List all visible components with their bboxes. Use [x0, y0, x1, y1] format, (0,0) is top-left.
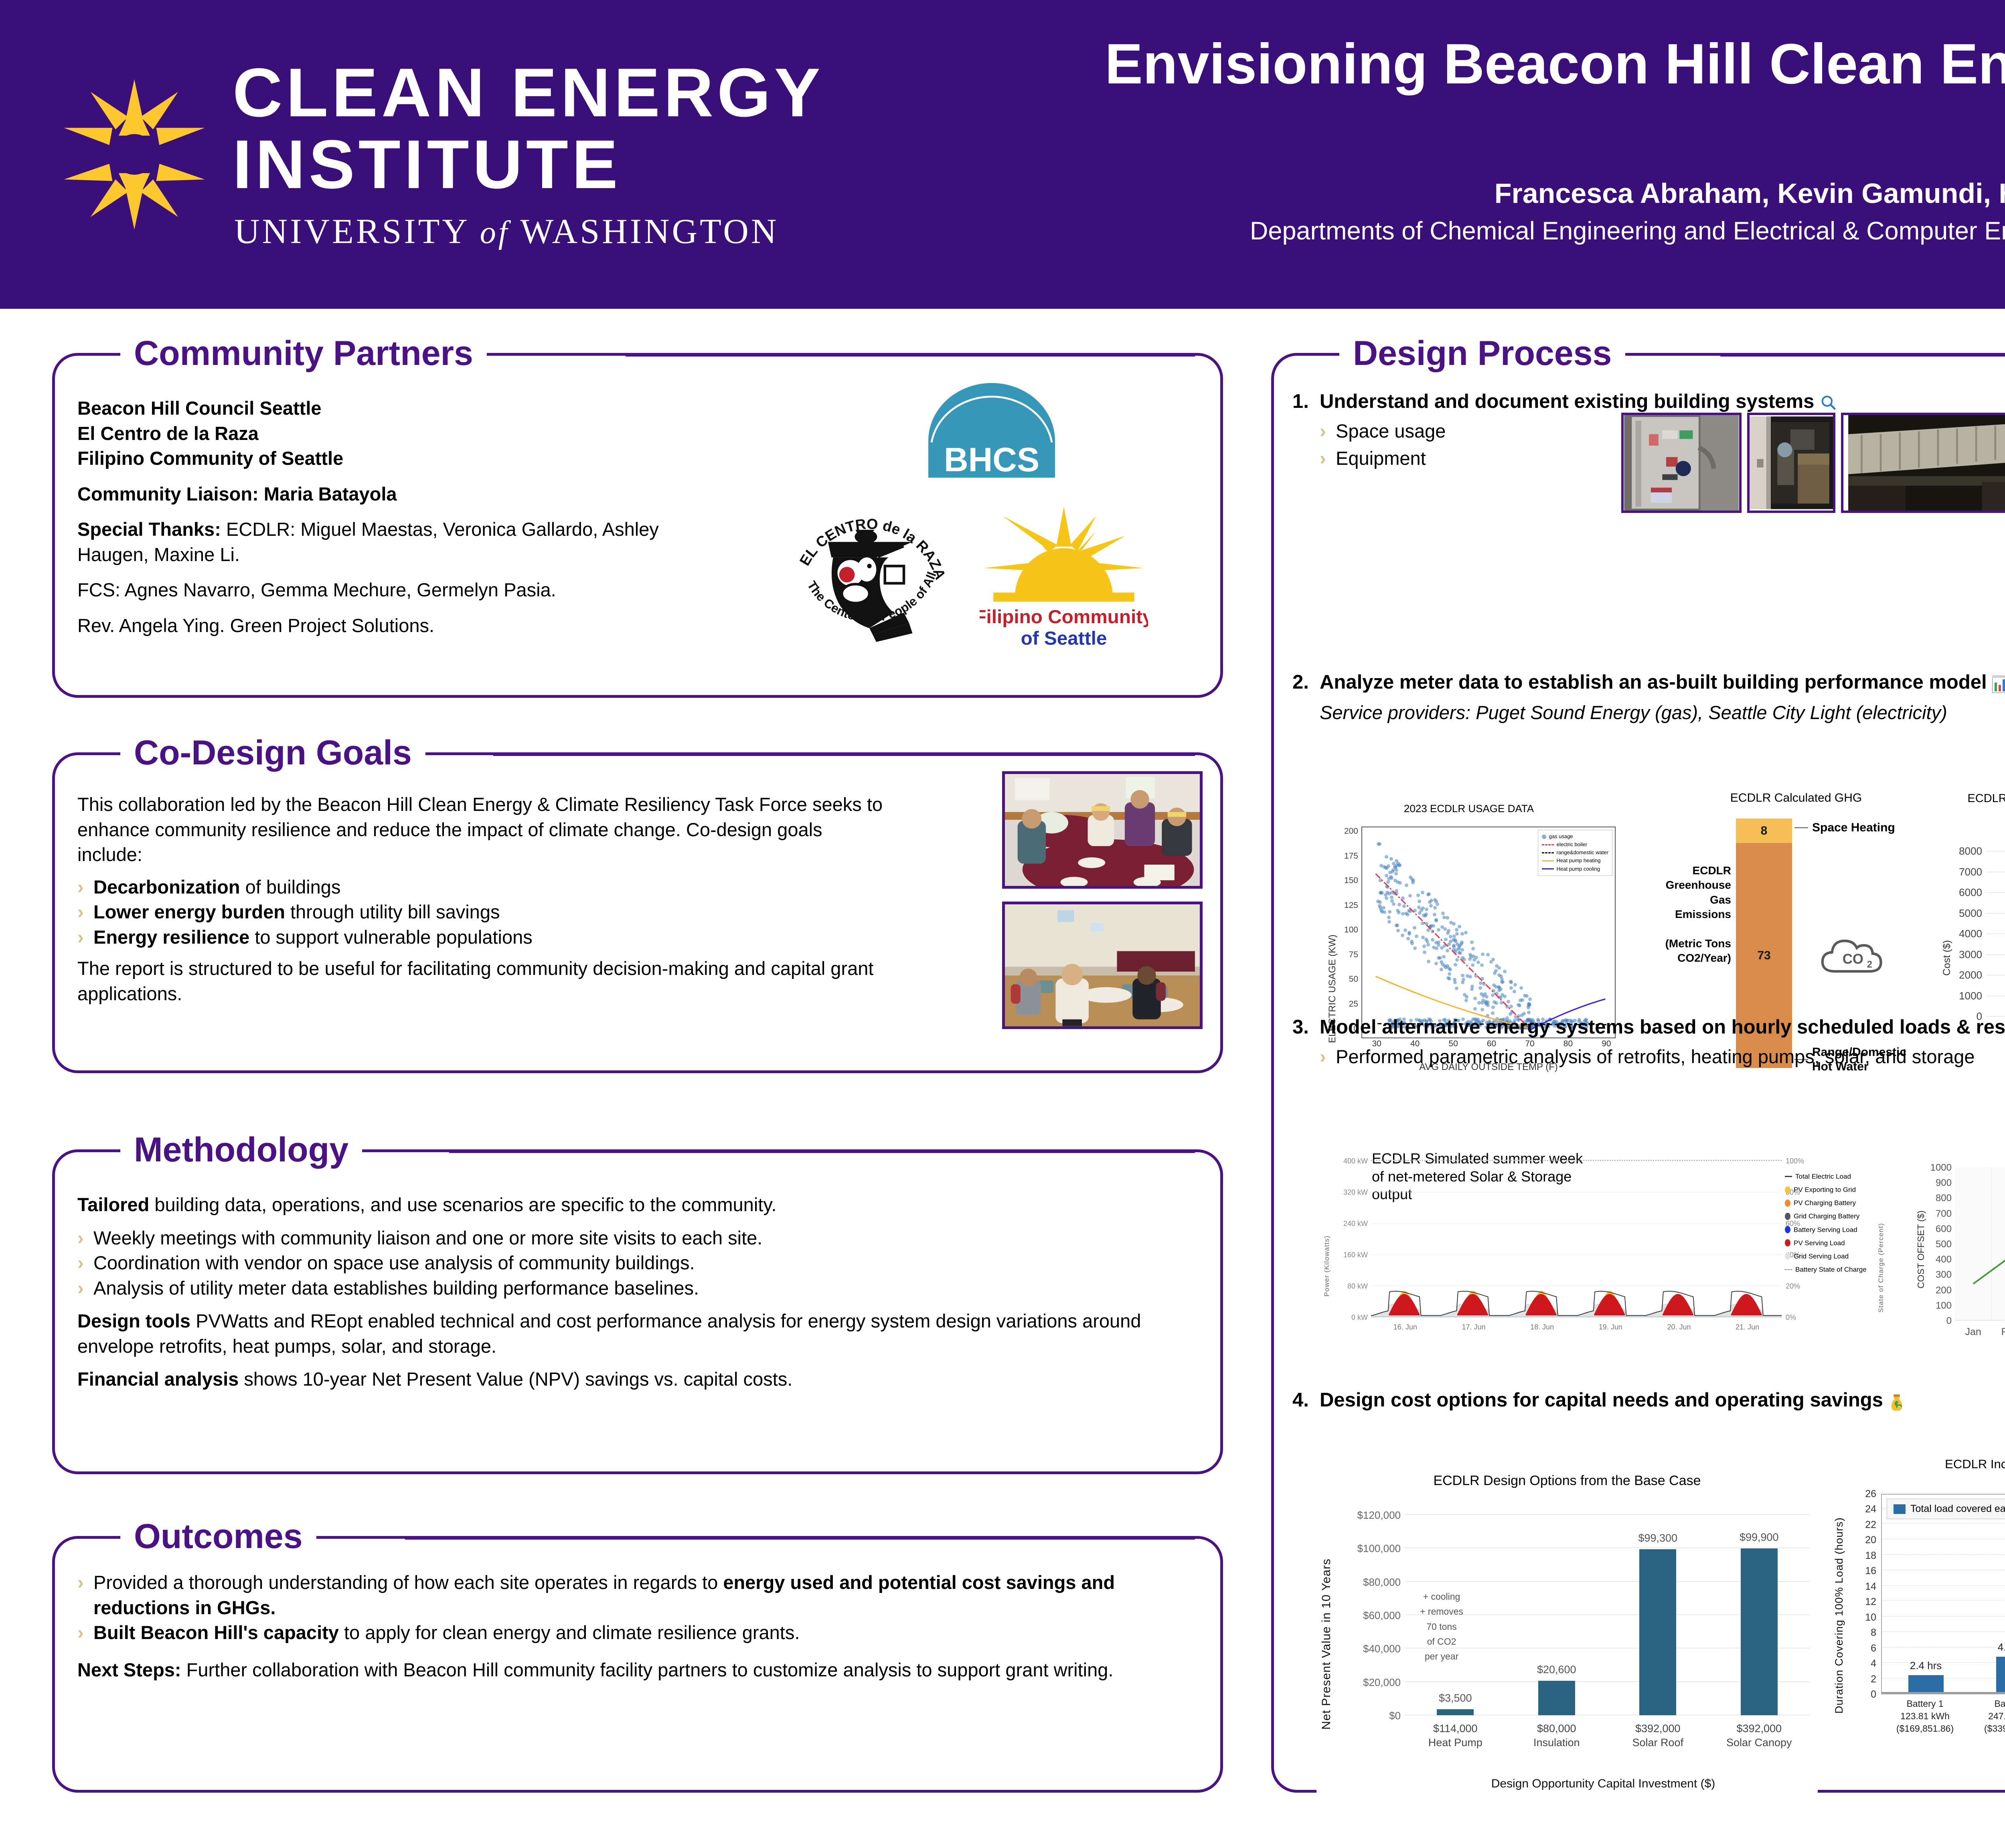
chart-y-tick: 800 [1924, 1193, 1952, 1204]
chart-y-tick: 14 [1853, 1581, 1876, 1593]
chart-y-tick: 0 [1924, 1315, 1952, 1327]
chart-y-tick: 16 [1853, 1565, 1876, 1577]
step-2-label: Analyze meter data [1320, 671, 1499, 693]
chart-x-axis-label: Battery Size (kWh) & Capital Cost ($) [1878, 1753, 2005, 1767]
step-number: 3. [1292, 1016, 1320, 1038]
legend-label: PV Exporting to Grid [1794, 1183, 1856, 1196]
section-rule [1720, 353, 2005, 357]
legend-label: range&domestic water [1557, 849, 1608, 857]
ghg-segment-value: 73 [1757, 949, 1770, 962]
annotation-line: 70 tons [1410, 1619, 1474, 1634]
chart-y-tick: 175 [1335, 851, 1358, 861]
chart-y-tick: 320 kW [1329, 1188, 1368, 1197]
step-3-label: Model alternative energy systems [1320, 1016, 1634, 1038]
goal-bullet: ›Lower energy burden through utility bil… [77, 900, 883, 925]
chart-plot-area [1371, 1161, 1782, 1317]
chart-y-tick: 80 kW [1329, 1282, 1368, 1291]
co2-cloud-icon: CO 2 [1816, 924, 1892, 980]
annotation-line: + cooling [1410, 1589, 1474, 1604]
methodology-bullet-label: Coordination with vendor on space use an… [93, 1250, 1196, 1276]
design-step-1-sub: ›Space usage [1320, 420, 1446, 442]
community-partners-text: Beacon Hill Council Seattle El Centro de… [77, 396, 727, 648]
chart-x-tick: 17. Jun [1440, 1323, 1508, 1331]
chart-title: 2023 ECDLR USAGE DATA [1316, 802, 1621, 815]
photo-doorway-equipment [1747, 413, 1835, 513]
chart-y2-tick: 0% [1786, 1313, 1814, 1322]
goals-intro: This collaboration led by the Beacon Hil… [77, 792, 883, 867]
legend-label: Battery State of Charge [1795, 1263, 1867, 1276]
chart-annotation: + cooling+ removes70 tonsof CO2per year [1410, 1589, 1474, 1664]
community-partners-panel: Beacon Hill Council Seattle El Centro de… [52, 353, 1223, 698]
chart-bar [1996, 1657, 2005, 1694]
step-3-sub-label: Performed parametric analysis of retrofi… [1336, 1046, 1975, 1068]
ghg-callout: Space Heating [1794, 821, 1900, 835]
legend-item: Battery State of Charge [1785, 1263, 1879, 1276]
photo-ductwork [1841, 413, 2005, 513]
legend-item: Total Electric Load [1785, 1170, 1879, 1183]
chart-y-tick: 10 [1853, 1612, 1876, 1623]
svg-text:CO: CO [1843, 951, 1863, 967]
chart-bar [1741, 1548, 1778, 1715]
chart-legend: gas usageelectric boilerrange&domestic w… [1538, 830, 1612, 876]
chart-legend: Total load covered each hour: 51.58 kW [1887, 1499, 2005, 1519]
annotation-line: of CO2 [1410, 1634, 1474, 1649]
chart-y-tick: 700 [1924, 1208, 1952, 1220]
chart-data-label: 2.4 hrs [1890, 1660, 1962, 1672]
chart-bar [1437, 1709, 1474, 1715]
chart-x-tick: 18. Jun [1508, 1323, 1576, 1331]
design-step-1: 1. Understand and document existing buil… [1292, 390, 2005, 414]
chart-y-tick: $60,000 [1330, 1609, 1401, 1622]
chart-y-tick: 6000 [1950, 886, 1982, 899]
chart-plot-area: 2.4 hrs4.8 hrs7.2 hrs9.6 hrs12 hrs24 hrs [1881, 1494, 2005, 1694]
legend-label: Total load covered each hour: 51.58 kW [1910, 1503, 2005, 1515]
poster-header: CLEAN ENERGY INSTITUTE UNIVERSITY of WAS… [0, 0, 2005, 309]
co-design-goals-title: Co-Design Goals [120, 736, 425, 770]
partner-name: Beacon Hill Council Seattle [77, 396, 727, 421]
chart-x-tick: 19. Jun [1576, 1323, 1645, 1331]
chart-y-tick: 18 [1853, 1550, 1876, 1562]
ghg-side-line: CO2/Year) [1636, 951, 1731, 965]
chart-y-tick: 240 kW [1329, 1220, 1368, 1228]
methodology-title: Methodology [120, 1133, 362, 1167]
design-step-3-sub: ›Performed parametric analysis of retrof… [1320, 1046, 2005, 1068]
legend-item: Battery Serving Load [1785, 1223, 1879, 1236]
chart-y-tick: 5000 [1950, 907, 1982, 920]
chart-y-tick: 25 [1335, 999, 1358, 1009]
chart-y-tick: 1000 [1950, 990, 1982, 1002]
goal-bullet: ›Decarbonization of buildings [77, 875, 883, 900]
chart-y-tick: $120,000 [1330, 1509, 1401, 1522]
methodology-bullet-label: Analysis of utility meter data establish… [93, 1276, 1196, 1301]
chart-legend: Ave SummerAve Winter [1938, 830, 2005, 841]
chart-y-tick: $40,000 [1330, 1643, 1401, 1655]
legend-item: range&domestic water [1542, 849, 1608, 857]
ghg-side-line: Gas [1636, 893, 1731, 907]
legend-label: electric boiler [1557, 841, 1588, 849]
chart-y-tick: 3000 [1950, 948, 1982, 961]
chart-title: ECDLR Calculated GHG [1636, 791, 1956, 805]
outcome-bullet: ›Provided a thorough understanding of ho… [77, 1570, 1196, 1620]
legend-item: Grid Serving Load [1785, 1250, 1879, 1263]
chart-y-tick: 400 [1924, 1254, 1952, 1265]
el-centro-de-la-raza-logo-icon: EL CENTRO de la RAZA The Center for Peop… [783, 483, 956, 656]
legend-item: Heat pump heating [1542, 857, 1608, 865]
svg-text:BHCS: BHCS [944, 441, 1039, 478]
chart-y-tick: 2000 [1950, 969, 1982, 981]
chart-y-tick: 7000 [1950, 866, 1982, 878]
chart-legend: Total Electric LoadPV Exporting to GridP… [1785, 1170, 1879, 1276]
chart-y-tick: 160 kW [1329, 1251, 1368, 1259]
goals-closing: The report is structured to be useful fo… [77, 956, 883, 1006]
ghg-segment-value: 8 [1761, 824, 1768, 838]
chart-y-tick: 20 [1853, 1534, 1876, 1546]
outcomes-panel: ›Provided a thorough understanding of ho… [52, 1536, 1223, 1793]
ghg-side-label: ECDLRGreenhouseGasEmissions (Metric Tons… [1636, 863, 1731, 966]
methodology-tailored: Tailored building data, operations, and … [77, 1192, 1196, 1218]
battery-name: Battery 2 [1969, 1698, 2005, 1710]
methodology-bullet: ›Coordination with vendor on space use a… [77, 1250, 1196, 1276]
legend-label: Battery Serving Load [1794, 1223, 1857, 1236]
bhcs-logo-icon: BHCS [924, 383, 1060, 479]
chart-y-tick: 400 kW [1329, 1157, 1368, 1165]
special-thanks-other: Rev. Angela Ying. Green Project Solution… [77, 613, 727, 638]
chart-y-tick: 4 [1853, 1658, 1876, 1670]
chart-y-tick: 100 [1924, 1300, 1952, 1311]
battery-size: 123.81 kWh [1881, 1710, 1969, 1722]
chart-data-label: $99,300 [1622, 1532, 1694, 1544]
ghg-side-line: Greenhouse [1636, 878, 1731, 892]
partner-logos: BHCS EL CENTRO de la RAZA The Center for… [751, 383, 1204, 680]
chart-plot-area: gas usageelectric boilerrange&domestic w… [1361, 827, 1616, 1038]
partner-name: Filipino Community of Seattle [77, 446, 727, 471]
chart-y-tick: 900 [1924, 1177, 1952, 1189]
community-partners-title: Community Partners [120, 336, 487, 371]
chart-y-tick: 300 [1924, 1269, 1952, 1281]
chart-y-tick: 24 [1853, 1504, 1876, 1515]
chart-y-tick: $0 [1330, 1710, 1401, 1722]
design-process-content: 1. Understand and document existing buil… [1292, 390, 2005, 1782]
chart-y-tick: 1000 [1924, 1162, 1952, 1173]
methodology-bullet: ›Analysis of utility meter data establis… [77, 1276, 1196, 1301]
battery-size: 247.61 kWh [1969, 1710, 2005, 1722]
chart-category-label: Battery 1123.81 kWh($169,851.86) [1881, 1698, 1969, 1735]
special-thanks-ecdlr: Special Thanks: ECDLR: Miguel Maestas, V… [77, 517, 727, 567]
annotation-line: per year [1410, 1649, 1474, 1664]
logo-text-line2: INSTITUTE [233, 129, 824, 201]
outcomes-text: ›Provided a thorough understanding of ho… [77, 1570, 1196, 1682]
chart-data-label: 4.8 hrs [1978, 1641, 2005, 1653]
logo-text-line1: CLEAN ENERGY [233, 57, 824, 129]
chart-y-tick: 600 [1924, 1224, 1952, 1235]
step-1-label: Understand and document existing buildin… [1320, 391, 1814, 412]
ghg-side-line: Emissions [1636, 907, 1731, 922]
legend-item: PV Exporting to Grid [1785, 1183, 1879, 1196]
legend-item: gas usage [1542, 833, 1608, 841]
design-step-4: 4. Design cost options for capital needs… [1292, 1389, 2005, 1412]
bar-chart-icon [1992, 672, 2005, 695]
chart-y-tick: 4000 [1950, 928, 1982, 940]
co-design-goals-panel: This collaboration led by the Beacon Hil… [52, 752, 1223, 1073]
chart-fcs-monthly-potential-solar-savings: FCS Monthly Potential Solar Savings COST… [1910, 1144, 2005, 1353]
design-step-2: 2. Analyze meter data to establish an as… [1292, 671, 2005, 695]
author-list: Francesca Abraham, Kevin Gamundi, Henri … [1088, 177, 2005, 209]
section-rule [405, 1536, 1195, 1540]
chart-y-tick: $100,000 [1330, 1542, 1401, 1555]
step-number: 4. [1292, 1389, 1320, 1411]
ghg-side-line: (Metric Tons [1636, 936, 1731, 951]
chart-ecdlr-simulated-solar-storage: ECDLR Simulated summer week of net-meter… [1320, 1152, 1882, 1353]
chart-title: ECDLR Design Options from the Base Case [1316, 1473, 1818, 1489]
photo-site-walkthrough [1002, 902, 1203, 1029]
chart-plot-area [1955, 1167, 2005, 1321]
cei-logo: CLEAN ENERGY INSTITUTE UNIVERSITY of WAS… [56, 57, 824, 252]
chart-title-line1: ECDLR Increasing Battery Size Adds Resil… [1830, 1457, 2005, 1471]
legend-label: Heat pump cooling [1557, 865, 1600, 873]
chart-bar [1908, 1675, 1944, 1694]
chart-title: ECDLR Comparative Heating System Options… [1938, 791, 2005, 821]
legend-label: Heat pump heating [1557, 857, 1601, 865]
step-number: 2. [1292, 671, 1320, 693]
chart-y-tick: 200 [1335, 827, 1358, 836]
chart-y-tick: $80,000 [1330, 1576, 1401, 1589]
design-process-panel: 1. Understand and document existing buil… [1271, 353, 2005, 1793]
design-step-2-providers: Service providers: Puget Sound Energy (g… [1320, 701, 2005, 723]
chart-data-label: $20,600 [1521, 1664, 1593, 1676]
svg-text:Filipino Community: Filipino Community [980, 606, 1148, 628]
methodology-bullet-label: Weekly meetings with community liaison a… [93, 1226, 1196, 1251]
chart-y-tick: 8 [1853, 1627, 1876, 1639]
methodology-panel: Tailored building data, operations, and … [52, 1149, 1223, 1474]
legend-label: Grid Serving Load [1794, 1250, 1849, 1263]
chart-bar [1538, 1681, 1575, 1715]
chart-plot-area [1986, 851, 2005, 1017]
ghg-segment: 8 [1736, 819, 1792, 843]
svg-text:2: 2 [1867, 959, 1872, 970]
chart-title-line2: [Simulated 104°F Day] [1830, 1471, 2005, 1486]
methodology-finance: Financial analysis shows 10-year Net Pre… [77, 1367, 1196, 1392]
chart-category-label: Battery 2247.61 kWh($339,703.72) [1969, 1698, 2005, 1735]
photo-electrical-panel [1621, 413, 1742, 513]
legend-label: gas usage [1549, 833, 1573, 841]
step-4-rest: for capital needs and operating savings [1507, 1389, 1883, 1411]
logo-text-line3: UNIVERSITY of WASHINGTON [234, 211, 824, 252]
step-1-sub-label: Space usage [1336, 420, 1446, 442]
step-number: 1. [1292, 390, 1320, 413]
page-title: Envisioning Beacon Hill Clean Energy & C… [1088, 32, 2005, 160]
chart-y2-tick: 100% [1786, 1157, 1814, 1165]
legend-item: electric boiler [1542, 841, 1608, 849]
chart-y-tick: 6 [1853, 1643, 1876, 1654]
chart-y-tick: 50 [1335, 975, 1358, 984]
legend-item: PV Serving Load [1785, 1236, 1879, 1250]
sun-burst-icon [56, 76, 213, 233]
section-rule [493, 752, 1195, 756]
section-rule [449, 1149, 1195, 1153]
chart-y-tick: 0 kW [1329, 1313, 1368, 1322]
battery-cost: ($339,703.72) [1969, 1722, 2005, 1735]
chart-x-tick: 16. Jun [1371, 1323, 1440, 1331]
photo-community-meeting [1002, 771, 1203, 889]
co-design-photos [1002, 771, 1203, 1029]
chart-data-label: $3,500 [1419, 1692, 1491, 1704]
chart-category-label: $114,000Heat Pump [1405, 1722, 1506, 1750]
step-2-rest: to establish an as-built building perfor… [1499, 671, 1987, 693]
chart-y-tick: 200 [1924, 1285, 1952, 1296]
step-4-label: Design cost options [1320, 1389, 1507, 1411]
chart-y-tick: 2 [1853, 1674, 1876, 1685]
filipino-community-of-seattle-logo-icon: Filipino Community of Seattle [980, 503, 1148, 656]
chart-title: FCS Monthly Potential Solar Savings [1910, 1144, 2005, 1160]
chart-x-tick: 21. Jun [1713, 1323, 1782, 1331]
ghg-callout-label: Space Heating [1812, 821, 1900, 835]
battery-cost: ($169,851.86) [1881, 1722, 1969, 1735]
design-step-3: 3. Model alternative energy systems base… [1292, 1016, 2005, 1039]
partner-name: El Centro de la Raza [77, 421, 727, 446]
annotation-line: + removes [1410, 1604, 1474, 1619]
step-1-photo-strip: Visiting site and observing equipment. [1621, 413, 2005, 527]
chart-x-axis-label: Design Opportunity Capital Investment ($… [1389, 1777, 1818, 1791]
outcome-bullet: ›Built Beacon Hill's capacity to apply f… [77, 1620, 1196, 1645]
legend-label: PV Serving Load [1794, 1236, 1845, 1250]
legend-item: Grid Charging Battery [1785, 1210, 1879, 1223]
chart-y-tick: 75 [1335, 950, 1358, 960]
chart-y-tick: 500 [1924, 1239, 1952, 1250]
money-bag-icon [1889, 1390, 1905, 1412]
legend-label: Grid Charging Battery [1794, 1210, 1859, 1223]
chart-y-tick: 125 [1335, 901, 1358, 910]
chart-bar [1639, 1549, 1676, 1715]
methodology-tools: Design tools PVWatts and REopt enabled t… [77, 1309, 1196, 1359]
battery-name: Battery 1 [1881, 1698, 1969, 1710]
section-rule [626, 353, 1195, 357]
design-process-title: Design Process [1339, 336, 1625, 371]
goal-bullet: ›Energy resilience to support vulnerable… [77, 925, 883, 950]
legend-item: Heat pump cooling [1542, 865, 1608, 873]
step-3-rest: based on hourly scheduled loads & resour… [1634, 1016, 2005, 1038]
co-design-goals-text: This collaboration led by the Beacon Hil… [77, 792, 883, 1006]
chart-x-tick: Jan [1955, 1326, 1991, 1338]
ghg-side-line: ECDLR [1636, 863, 1731, 878]
title-block: Envisioning Beacon Hill Clean Energy & C… [1088, 32, 2005, 245]
methodology-bullet: ›Weekly meetings with community liaison … [77, 1226, 1196, 1251]
special-thanks-fcs: FCS: Agnes Navarro, Gemma Mechure, Germe… [77, 577, 727, 603]
chart-ecdlr-design-options: ECDLR Design Options from the Base Case … [1316, 1473, 1818, 1794]
chart-y2-tick: 20% [1786, 1282, 1814, 1291]
ghg-side-line [1636, 922, 1731, 936]
chart-y-tick: 150 [1335, 876, 1358, 885]
department-line: Departments of Chemical Engineering and … [1088, 217, 2005, 245]
chart-y-tick: 0 [1853, 1689, 1876, 1700]
magnifier-icon [1820, 391, 1837, 414]
svg-text:of Seattle: of Seattle [1021, 628, 1107, 649]
legend-label: PV Charging Battery [1794, 1196, 1856, 1210]
design-step-1-sub: ›Equipment [1320, 447, 1426, 469]
legend-item: PV Charging Battery [1785, 1196, 1879, 1210]
step-1-sub-label: Equipment [1336, 447, 1426, 469]
chart-y-tick: 26 [1853, 1488, 1876, 1500]
chart-data-label: $99,900 [1723, 1531, 1795, 1544]
chart-x-tick: 20. Jun [1645, 1323, 1713, 1331]
chart-y-tick: 12 [1853, 1596, 1876, 1608]
chart-category-label: $392,000Solar Roof [1607, 1722, 1709, 1750]
next-steps: Next Steps: Further collaboration with B… [77, 1658, 1196, 1683]
legend-label: Total Electric Load [1795, 1170, 1851, 1183]
chart-y-tick: 100 [1335, 925, 1358, 935]
chart-y-tick: 8000 [1950, 845, 1982, 857]
chart-category-label: $80,000Insulation [1506, 1722, 1608, 1750]
methodology-text: Tailored building data, operations, and … [77, 1192, 1196, 1392]
chart-y-tick: $20,000 [1330, 1676, 1401, 1689]
chart-y-tick: 22 [1853, 1519, 1876, 1531]
chart-battery-resiliency: ECDLR Increasing Battery Size Adds Resil… [1830, 1457, 2005, 1790]
outcomes-title: Outcomes [120, 1519, 316, 1554]
community-liaison: Community Liaison: Maria Batayola [77, 482, 727, 507]
chart-category-label: $392,000Solar Canopy [1709, 1722, 1810, 1750]
chart-y-axis-label: Duration Covering 100% Load (hours) [1833, 1517, 1845, 1714]
chart-x-tick: Feb [1991, 1326, 2005, 1338]
